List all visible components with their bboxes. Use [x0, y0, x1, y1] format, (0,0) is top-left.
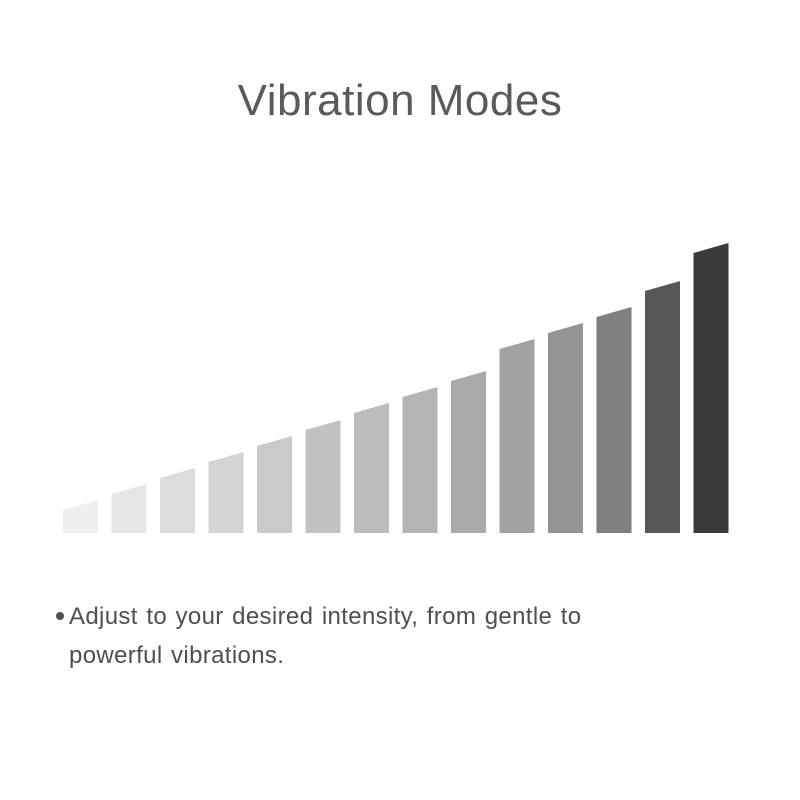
caption-text: Adjust to your desired intensity, from g… — [69, 598, 679, 676]
chart-bar — [694, 243, 729, 533]
chart-bar — [63, 500, 98, 533]
bullet-dot-icon — [56, 612, 64, 620]
chart-bar — [257, 436, 292, 533]
page-title: Vibration Modes — [0, 76, 800, 127]
chart-bar — [500, 339, 535, 533]
caption-bullet-row: Adjust to your desired intensity, from g… — [56, 598, 716, 676]
chart-bar — [160, 468, 195, 533]
chart-bar — [548, 323, 583, 533]
chart-bar — [209, 452, 244, 533]
chart-bar — [306, 420, 341, 533]
chart-bar — [451, 371, 486, 533]
chart-bar — [354, 403, 389, 533]
caption-block: Adjust to your desired intensity, from g… — [56, 598, 716, 676]
chart-bar — [403, 387, 438, 533]
chart-bar — [645, 281, 680, 533]
chart-bar — [112, 484, 147, 533]
bars-group — [63, 243, 729, 533]
chart-bar — [597, 307, 632, 533]
slide-canvas: Vibration Modes Adjust to your desired i… — [0, 0, 800, 800]
